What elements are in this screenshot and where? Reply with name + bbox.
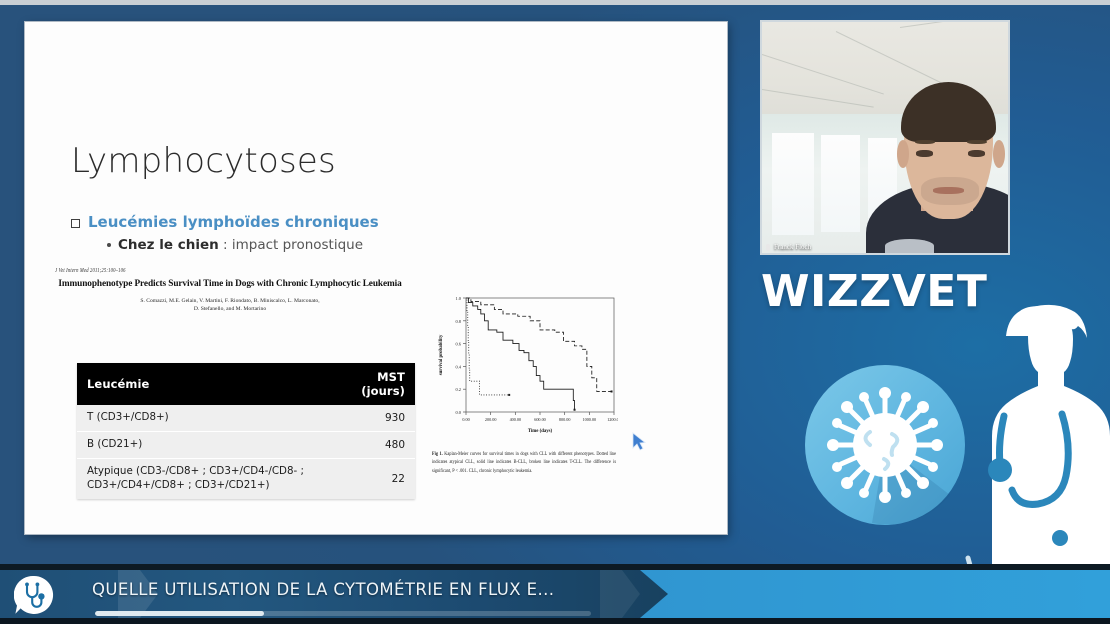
paper-header-block: J Vet Intern Med 2011;25:100–106 Immunop… [55, 267, 405, 313]
webcam-window [821, 135, 860, 232]
table-header-mst: MST (jours) [341, 363, 415, 405]
virus-cell-icon [800, 360, 970, 530]
webcam-participant-name: Franck Floch [774, 243, 811, 251]
svg-text:200.00: 200.00 [485, 417, 497, 422]
bottom-toolbar[interactable]: QUELLE UTILISATION DE LA CYTOMÉTRIE EN F… [0, 564, 1110, 624]
kaplan-meier-figure: 0.00.20.40.60.81.00.00200.00400.00600.00… [432, 288, 618, 493]
figure-caption-label: Fig 1. [432, 450, 443, 457]
bullet-dot-icon [107, 243, 111, 247]
svg-text:Time (days): Time (days) [528, 429, 553, 434]
table-header-leucemie: Leucémie [77, 363, 341, 405]
slide-bullet-primary-text: Leucémies lymphoïdes chroniques [88, 213, 379, 231]
svg-text:1000.00: 1000.00 [583, 417, 597, 422]
table-cell-mst: 480 [341, 432, 415, 459]
table-cell-mst: 930 [341, 405, 415, 432]
slide-bullet-secondary-rest: : impact pronostique [219, 237, 363, 253]
webcam-panel[interactable]: Franck Floch [760, 20, 1010, 255]
table-cell-leucemie: B (CD21+) [77, 432, 341, 459]
svg-text:0.2: 0.2 [456, 387, 462, 392]
svg-text:survival probability: survival probability [439, 334, 444, 375]
person-hair [901, 82, 996, 142]
mouse-pointer-icon [632, 432, 648, 452]
table-row: B (CD21+) 480 [77, 432, 415, 459]
table-header-row: Leucémie MST (jours) [77, 363, 415, 405]
paper-title: Immunophenotype Predicts Survival Time i… [55, 278, 405, 291]
figure-caption-text: Kaplan-Meier curves for survival times i… [432, 450, 616, 473]
svg-text:1200.00: 1200.00 [607, 417, 618, 422]
svg-text:400.00: 400.00 [510, 417, 522, 422]
person-ear-right [993, 140, 1005, 168]
microphone-icon [766, 244, 770, 251]
svg-text:1.0: 1.0 [456, 296, 462, 301]
table-row: T (CD3+/CD8+) 930 [77, 405, 415, 432]
table-cell-leucemie: T (CD3+/CD8+) [77, 405, 341, 432]
table-cell-mst: 22 [341, 459, 415, 499]
webcam-name-label: Franck Floch [766, 243, 811, 251]
figure-caption: Fig 1. Kaplan-Meier curves for survival … [432, 450, 618, 475]
playback-progress-fill [95, 611, 264, 616]
svg-text:0.4: 0.4 [456, 364, 462, 369]
slide-surface[interactable]: Lymphocytoses Leucémies lymphoïdes chron… [25, 22, 727, 534]
person-eye-right [968, 150, 985, 157]
svg-text:0.6: 0.6 [456, 342, 462, 347]
presentation-title: QUELLE UTILISATION DE LA CYTOMÉTRIE EN F… [92, 580, 554, 599]
presentation-stage: Lymphocytoses Leucémies lymphoïdes chron… [0, 0, 1110, 624]
svg-text:0.0: 0.0 [456, 410, 462, 415]
kaplan-meier-chart: 0.00.20.40.60.81.00.00200.00400.00600.00… [432, 288, 618, 448]
paper-authors-line-1: S. Comazzi, M.E. Gelain, V. Martini, F. … [55, 297, 405, 305]
paper-authors-line-2: D. Stefanello, and M. Mortarino [55, 305, 405, 313]
svg-text:0.8: 0.8 [456, 319, 462, 324]
brand-wordmark: WIZZVET [761, 266, 987, 317]
playback-progress-bar[interactable] [95, 611, 591, 616]
svg-text:600.00: 600.00 [534, 417, 546, 422]
paper-journal-ref: J Vet Intern Med 2011;25:100–106 [55, 267, 405, 273]
table-cell-leucemie: Atypique (CD3-/CD8+ ; CD3+/CD4-/CD8- ; C… [77, 459, 341, 499]
stethoscope-speech-bubble-logo[interactable] [14, 575, 54, 615]
person-eye-left [916, 150, 933, 157]
results-table: Leucémie MST (jours) T (CD3+/CD8+) 930 B… [77, 363, 415, 499]
table-row: Atypique (CD3-/CD8+ ; CD3+/CD4-/CD8- ; C… [77, 459, 415, 499]
svg-text:800.00: 800.00 [559, 417, 571, 422]
webcam-person [875, 68, 1010, 255]
slide-title: Lymphocytoses [71, 141, 336, 181]
slide-bullet-secondary-bold: Chez le chien [118, 237, 219, 253]
person-ear-left [897, 140, 909, 168]
slide-bullet-secondary: Chez le chien : impact pronostique [107, 237, 363, 253]
person-collar [885, 239, 934, 253]
slide-bullet-primary: Leucémies lymphoïdes chroniques [71, 213, 379, 231]
svg-text:0.00: 0.00 [462, 417, 469, 422]
veterinarian-silhouette-icon [960, 288, 1110, 584]
checkbox-square-icon [71, 219, 80, 228]
person-mouth [933, 187, 964, 194]
webcam-window [772, 133, 814, 235]
